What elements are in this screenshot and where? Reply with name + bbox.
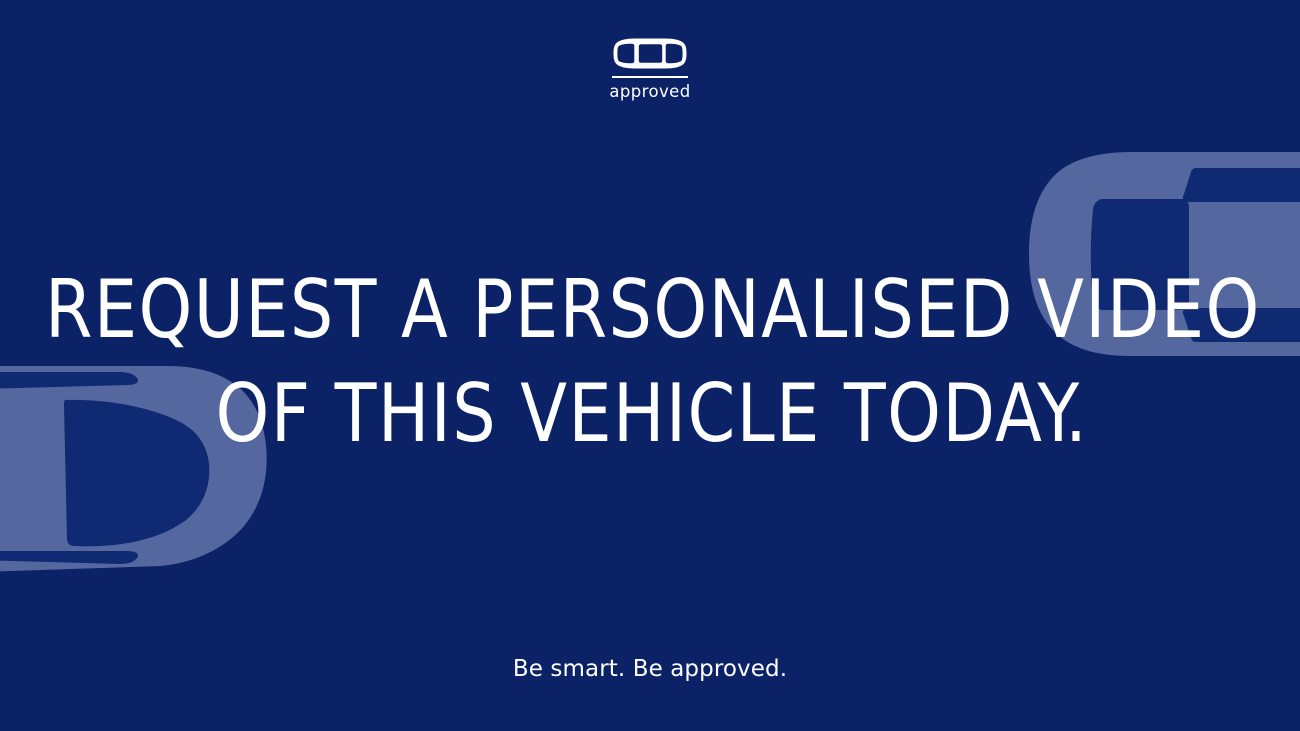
brand-wordmark: approved [609,84,690,101]
tagline: Be smart. Be approved. [0,655,1300,683]
headline-line-1: REQUEST A PERSONALISED VIDEO [33,258,1268,362]
brand-divider-rule [612,76,688,78]
promo-slide: approved REQUEST A PERSONALISED VIDEO OF… [0,0,1300,731]
car-top-view-icon [613,38,687,69]
headline: REQUEST A PERSONALISED VIDEO OF THIS VEH… [0,258,1300,466]
headline-line-2: OF THIS VEHICLE TODAY. [33,362,1268,466]
brand-lockup: approved [0,38,1300,101]
